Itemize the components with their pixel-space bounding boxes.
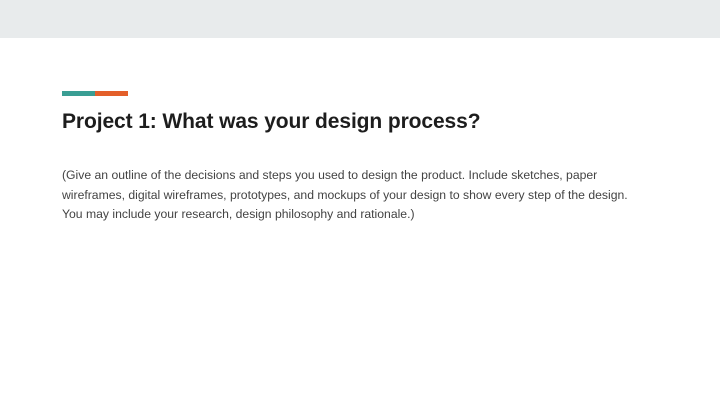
accent-rule-teal-segment xyxy=(62,91,95,96)
accent-rule-orange-segment xyxy=(95,91,128,96)
accent-rule xyxy=(62,91,128,96)
slide-description-text: (Give an outline of the decisions and st… xyxy=(62,166,644,225)
header-band xyxy=(0,0,720,38)
page-title: Project 1: What was your design process? xyxy=(62,108,662,135)
slide-content-area: Project 1: What was your design process?… xyxy=(0,38,720,405)
